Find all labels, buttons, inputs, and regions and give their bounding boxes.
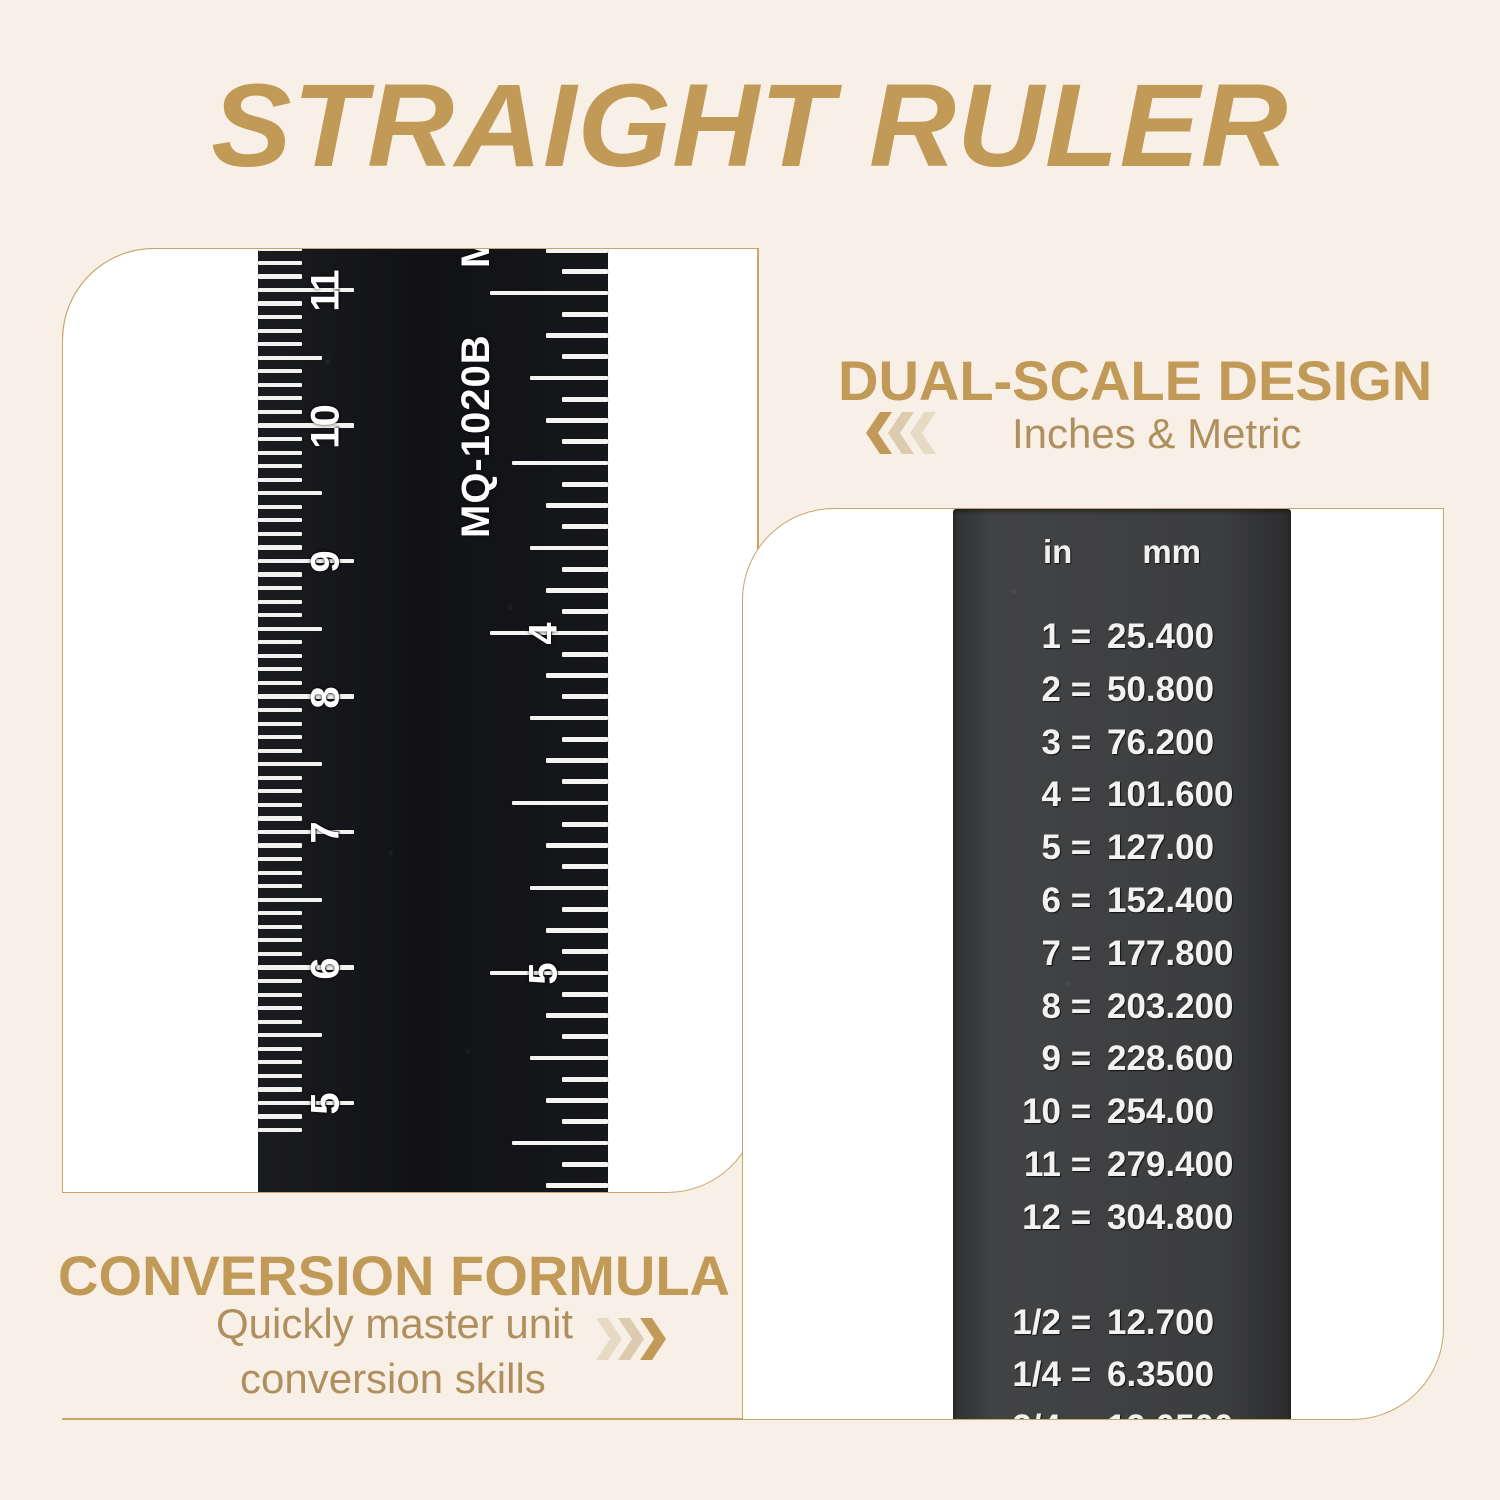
row-inches: 7 — [975, 934, 1061, 974]
conversion-row: 1/4=6.3500 — [953, 1355, 1291, 1395]
row-millimeters: 76.200 — [1101, 723, 1269, 763]
inch-tick — [562, 1162, 608, 1167]
inch-tick — [546, 1098, 608, 1103]
metric-tick — [258, 532, 302, 536]
metric-number-10: 10 — [304, 396, 349, 456]
conversion-row: 2=50.800 — [953, 670, 1291, 710]
row-equals: = — [1061, 1355, 1101, 1395]
row-equals: = — [1061, 1092, 1101, 1132]
metric-tick — [258, 1060, 302, 1064]
ruler-brand-text: MQ-1020B — [454, 334, 499, 538]
metric-number-7: 7 — [304, 803, 349, 863]
inch-tick — [562, 609, 608, 614]
metric-tick — [258, 708, 302, 712]
inch-tick — [530, 886, 608, 891]
metric-tick — [258, 518, 302, 522]
inch-tick — [562, 482, 608, 487]
row-millimeters: 127.00 — [1101, 828, 1269, 868]
row-equals: = — [1061, 1039, 1101, 1079]
metric-tick — [258, 572, 302, 576]
row-millimeters: 228.600 — [1101, 1039, 1269, 1079]
dual-scale-subtitle: Inches & Metric — [1012, 410, 1301, 458]
metric-tick — [258, 274, 302, 278]
row-equals: = — [1061, 670, 1101, 710]
conversion-row: 11=279.400 — [953, 1145, 1291, 1185]
column-header-mm: mm — [1142, 533, 1201, 571]
row-inches: 9 — [975, 1039, 1061, 1079]
metric-tick — [258, 248, 302, 251]
metric-tick — [258, 369, 302, 373]
metric-tick — [258, 735, 302, 739]
inch-tick — [546, 418, 608, 423]
conversion-row: 1/2=12.700 — [953, 1303, 1291, 1343]
row-inches: 1 — [975, 617, 1061, 657]
metric-tick — [258, 1128, 302, 1132]
metric-tick — [258, 478, 302, 482]
inch-tick — [546, 333, 608, 338]
conversion-formula-chevrons — [596, 1318, 662, 1360]
metric-tick — [258, 911, 302, 915]
metric-tick — [258, 1047, 302, 1051]
metric-tick — [258, 1114, 302, 1118]
inch-tick — [562, 737, 608, 742]
ruler-image: 11109876545MADE INMQ-1020B — [258, 248, 608, 1193]
row-millimeters: 19.0500 — [1101, 1408, 1269, 1420]
conversion-row: 9=228.600 — [953, 1039, 1291, 1079]
inch-tick — [562, 822, 608, 827]
conversion-row: 4=101.600 — [953, 775, 1291, 815]
row-equals: = — [1061, 723, 1101, 763]
conversion-formula-subtitle-line2: conversion skills — [240, 1355, 546, 1403]
left-frame-bottom-line — [62, 1418, 759, 1420]
metric-tick — [258, 451, 302, 455]
dual-scale-heading: DUAL-SCALE DESIGN — [838, 348, 1432, 413]
row-inches: 1/2 — [975, 1303, 1061, 1343]
inch-tick — [562, 949, 608, 954]
metric-tick — [258, 437, 302, 441]
row-equals: = — [1061, 1198, 1101, 1238]
row-inches: 3 — [975, 723, 1061, 763]
metric-tick — [258, 843, 302, 847]
metric-tick — [258, 816, 302, 820]
row-inches: 8 — [975, 987, 1061, 1027]
metric-number-6: 6 — [304, 938, 349, 998]
inch-number-4: 4 — [522, 604, 567, 664]
row-millimeters: 12.700 — [1101, 1303, 1269, 1343]
metric-tick — [258, 993, 302, 997]
inch-tick — [562, 907, 608, 912]
metric-tick — [258, 722, 302, 726]
metric-tick — [258, 803, 302, 807]
inch-tick — [562, 694, 608, 699]
ruler-origin-text: MADE IN — [454, 248, 499, 268]
metric-tick — [258, 505, 302, 509]
metric-tick — [258, 1033, 322, 1037]
inch-tick — [562, 354, 608, 359]
metric-tick — [258, 776, 302, 780]
page-title: STRAIGHT RULER — [0, 58, 1500, 194]
inch-tick — [562, 779, 608, 784]
row-inches: 5 — [975, 828, 1061, 868]
metric-tick — [258, 410, 302, 414]
metric-tick — [258, 383, 302, 387]
metric-tick — [258, 356, 322, 360]
metric-tick — [258, 586, 302, 590]
metric-number-11: 11 — [304, 261, 349, 321]
metric-tick — [258, 1006, 302, 1010]
inch-tick — [546, 248, 608, 253]
metric-tick — [258, 1020, 302, 1024]
row-millimeters: 101.600 — [1101, 775, 1269, 815]
conversion-row: 3/4=19.0500 — [953, 1408, 1291, 1420]
row-inches: 3/4 — [975, 1408, 1061, 1420]
inch-tick — [530, 376, 608, 381]
metric-tick — [258, 342, 302, 346]
conversion-table-panel: in mm 1=25.4002=50.8003=76.2004=101.6005… — [742, 508, 1444, 1420]
inch-tick — [546, 1013, 608, 1018]
metric-tick — [258, 654, 302, 658]
row-millimeters: 25.400 — [1101, 617, 1269, 657]
conversion-row: 12=304.800 — [953, 1198, 1291, 1238]
metric-tick — [258, 871, 302, 875]
metric-tick — [258, 545, 302, 549]
metric-tick — [258, 329, 302, 333]
row-millimeters: 177.800 — [1101, 934, 1269, 974]
metric-tick — [258, 884, 302, 888]
row-millimeters: 6.3500 — [1101, 1355, 1269, 1395]
row-equals: = — [1061, 1408, 1101, 1420]
inch-tick — [530, 546, 608, 551]
conversion-row: 5=127.00 — [953, 828, 1291, 868]
metric-number-5: 5 — [304, 1074, 349, 1134]
inch-tick — [530, 716, 608, 721]
metric-tick — [258, 898, 322, 902]
row-millimeters: 50.800 — [1101, 670, 1269, 710]
conversion-row: 7=177.800 — [953, 934, 1291, 974]
metric-tick — [258, 681, 302, 685]
inch-tick — [562, 992, 608, 997]
inch-tick — [512, 801, 608, 806]
column-header-in: in — [1043, 533, 1072, 571]
row-equals: = — [1061, 828, 1101, 868]
inch-tick — [546, 503, 608, 508]
row-millimeters: 304.800 — [1101, 1198, 1269, 1238]
row-millimeters: 254.00 — [1101, 1092, 1269, 1132]
inch-tick — [562, 397, 608, 402]
row-equals: = — [1061, 881, 1101, 921]
metric-tick — [258, 613, 302, 617]
metric-tick — [258, 952, 302, 956]
inch-tick — [546, 928, 608, 933]
row-inches: 4 — [975, 775, 1061, 815]
row-equals: = — [1061, 775, 1101, 815]
metric-tick — [258, 749, 302, 753]
conversion-formula-heading: CONVERSION FORMULA — [58, 1243, 730, 1308]
metric-tick — [258, 627, 322, 631]
row-equals: = — [1061, 1303, 1101, 1343]
inch-tick — [562, 1077, 608, 1082]
metric-tick — [258, 491, 322, 495]
inch-tick — [546, 843, 608, 848]
metric-tick — [258, 1087, 302, 1091]
row-inches: 2 — [975, 670, 1061, 710]
metric-number-9: 9 — [304, 532, 349, 592]
inch-tick — [562, 864, 608, 869]
row-inches: 12 — [975, 1198, 1061, 1238]
metric-tick — [258, 979, 302, 983]
conversion-row: 3=76.200 — [953, 723, 1291, 763]
inch-tick — [546, 588, 608, 593]
inch-tick — [562, 567, 608, 572]
inch-tick — [562, 1034, 608, 1039]
inch-tick — [546, 1183, 608, 1188]
row-inches: 6 — [975, 881, 1061, 921]
conversion-table-header: in mm — [953, 533, 1291, 571]
row-millimeters: 279.400 — [1101, 1145, 1269, 1185]
conversion-row: 6=152.400 — [953, 881, 1291, 921]
row-equals: = — [1061, 1145, 1101, 1185]
conversion-table-block: in mm 1=25.4002=50.8003=76.2004=101.6005… — [953, 509, 1291, 1420]
metric-tick — [258, 600, 302, 604]
row-equals: = — [1061, 617, 1101, 657]
ruler-photo: 11109876545MADE INMQ-1020B — [62, 248, 759, 1193]
row-inches: 11 — [975, 1145, 1061, 1185]
metric-tick — [258, 1074, 302, 1078]
row-inches: 10 — [975, 1092, 1061, 1132]
metric-tick — [258, 315, 302, 319]
metric-tick — [258, 925, 302, 929]
inch-tick — [512, 1141, 608, 1146]
inch-tick — [562, 524, 608, 529]
inch-tick — [562, 312, 608, 317]
metric-tick — [258, 667, 302, 671]
metric-tick — [258, 261, 302, 265]
metric-tick — [258, 762, 322, 766]
inch-tick — [562, 269, 608, 274]
inch-tick — [546, 758, 608, 763]
inch-tick — [512, 461, 608, 466]
metric-tick — [258, 396, 302, 400]
row-equals: = — [1061, 934, 1101, 974]
dual-scale-chevrons — [866, 412, 932, 454]
conversion-row: 10=254.00 — [953, 1092, 1291, 1132]
inch-tick — [562, 1119, 608, 1124]
metric-tick — [258, 640, 302, 644]
metric-tick — [258, 789, 302, 793]
metric-tick — [258, 857, 302, 861]
inch-tick — [562, 652, 608, 657]
row-millimeters: 203.200 — [1101, 987, 1269, 1027]
metric-tick — [258, 464, 302, 468]
metric-tick — [258, 938, 302, 942]
conversion-row: 1=25.400 — [953, 617, 1291, 657]
metric-number-8: 8 — [304, 667, 349, 727]
row-millimeters: 152.400 — [1101, 881, 1269, 921]
conversion-row: 8=203.200 — [953, 987, 1291, 1027]
conversion-formula-subtitle-line1: Quickly master unit — [216, 1300, 573, 1348]
metric-tick — [258, 301, 302, 305]
inch-tick — [490, 291, 608, 296]
inch-number-5: 5 — [522, 944, 567, 1004]
row-equals: = — [1061, 987, 1101, 1027]
inch-tick — [530, 1056, 608, 1061]
inch-tick — [562, 439, 608, 444]
inch-tick — [546, 673, 608, 678]
row-inches: 1/4 — [975, 1355, 1061, 1395]
